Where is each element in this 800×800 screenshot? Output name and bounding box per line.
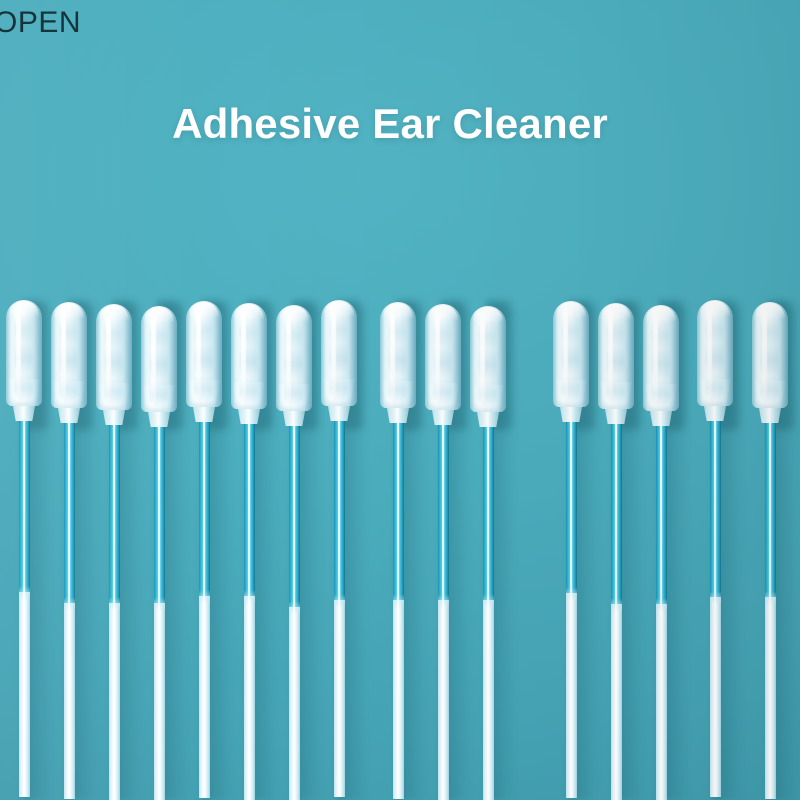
tip-highlight: [762, 310, 767, 400]
swab-cotton-tip: [6, 300, 42, 406]
tip-highlight: [106, 312, 111, 402]
tip-highlight: [390, 310, 395, 400]
tip-highlight: [241, 311, 246, 401]
tip-highlight: [331, 308, 336, 398]
tip-highlight: [16, 308, 21, 398]
stick-highlight: [203, 394, 205, 798]
stick-highlight: [615, 396, 617, 800]
swab-stick: [393, 395, 404, 799]
swab-cotton-tip: [752, 302, 788, 408]
tip-highlight: [61, 310, 66, 400]
stick-highlight: [570, 394, 572, 798]
swab-stick: [334, 393, 345, 797]
swab-stick: [483, 399, 494, 800]
stick-highlight: [487, 399, 489, 800]
swab-cotton-tip: [96, 304, 132, 410]
swab-stick: [109, 397, 120, 800]
tip-highlight: [435, 312, 440, 402]
swab-stick: [244, 396, 255, 800]
swab-cotton-tip: [276, 305, 312, 411]
swab-stick: [765, 395, 776, 799]
stick-highlight: [113, 397, 115, 800]
stick-highlight: [397, 395, 399, 799]
open-corner-label: OPEN: [0, 8, 81, 38]
swab-cotton-tip: [380, 302, 416, 408]
swab-cotton-tip: [321, 300, 357, 406]
swab-stick: [289, 398, 300, 800]
swab-cotton-tip: [697, 300, 733, 406]
stick-highlight: [158, 399, 160, 800]
tip-highlight: [608, 311, 613, 401]
swab-cotton-tip: [553, 301, 589, 407]
swab-cotton-tip: [186, 301, 222, 407]
product-photo-canvas: OPEN Adhesive Ear Cleaner: [0, 0, 800, 800]
swab-cotton-tip: [141, 306, 177, 412]
stick-highlight: [68, 395, 70, 799]
swab-stick: [566, 394, 577, 798]
swab-cotton-tip: [425, 304, 461, 410]
tip-highlight: [707, 308, 712, 398]
tip-highlight: [196, 309, 201, 399]
swab-stick: [438, 397, 449, 800]
tip-highlight: [286, 313, 291, 403]
stick-highlight: [714, 393, 716, 797]
swab-cotton-tip: [470, 306, 506, 412]
product-title: Adhesive Ear Cleaner: [0, 101, 800, 147]
swab-cotton-tip: [598, 303, 634, 409]
swab-stick: [611, 396, 622, 800]
swab-stick: [710, 393, 721, 797]
stick-highlight: [769, 395, 771, 799]
swab-cotton-tip: [51, 302, 87, 408]
swab-stick: [64, 395, 75, 799]
swab-cotton-tip: [643, 305, 679, 411]
tip-highlight: [653, 313, 658, 403]
stick-highlight: [442, 397, 444, 800]
stick-highlight: [293, 398, 295, 800]
stick-highlight: [338, 393, 340, 797]
swab-stick: [656, 398, 667, 800]
tip-highlight: [151, 314, 156, 404]
swab-stick: [199, 394, 210, 798]
swab-stick: [154, 399, 165, 800]
tip-highlight: [480, 314, 485, 404]
swab-stick: [19, 393, 30, 797]
swab-cotton-tip: [231, 303, 267, 409]
stick-highlight: [248, 396, 250, 800]
stick-highlight: [23, 393, 25, 797]
tip-highlight: [563, 309, 568, 399]
stick-highlight: [660, 398, 662, 800]
